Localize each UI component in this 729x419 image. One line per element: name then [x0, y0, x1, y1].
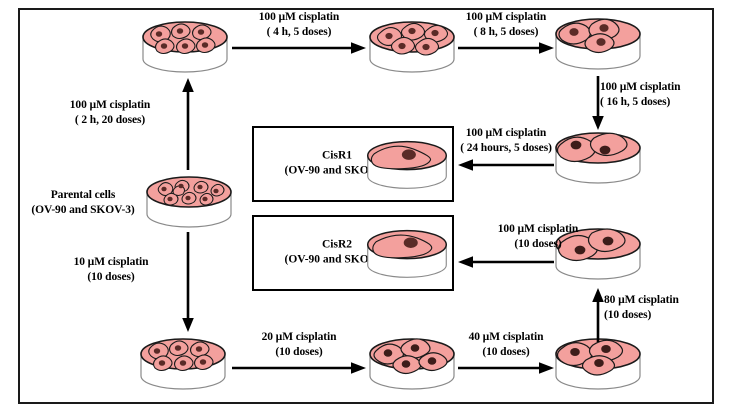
label-parental-cells: Parental cells (OV-90 and SKOV-3): [22, 188, 144, 218]
parental-cells-dish: [143, 170, 235, 232]
label-treatment-8h-line2: ( 8 h, 5 doses): [426, 25, 586, 40]
label-treatment-2h-line1: 100 µM cisplatin: [30, 98, 190, 113]
label-treatment-20um-line2: (10 doses): [219, 345, 379, 360]
label-treatment-8h-line1: 100 µM cisplatin: [426, 10, 586, 25]
cisr2-title: CisR2: [322, 239, 352, 251]
arrow-20um-right: [232, 358, 366, 378]
label-treatment-80um-line2: (10 doses): [604, 308, 724, 323]
figure-canvas: CisR1 (OV-90 and SKOV-3) CisR2 (OV-90 an…: [0, 0, 729, 419]
label-treatment-20um-line1: 20 µM cisplatin: [219, 330, 379, 345]
label-treatment-10um-line1: 10 µM cisplatin: [36, 255, 186, 270]
label-parental-cells-line1: Parental cells: [22, 188, 144, 203]
arrow-100um-left: [458, 252, 554, 272]
cisr1-title: CisR1: [322, 150, 352, 162]
arrow-24h-left: [458, 155, 554, 175]
label-treatment-4h-line1: 100 µM cisplatin: [219, 10, 379, 25]
label-treatment-24h: 100 µM cisplatin ( 24 hours, 5 doses): [424, 126, 588, 156]
cisr2-result-box: CisR2 (OV-90 and SKOV-3): [252, 215, 454, 291]
label-treatment-8h: 100 µM cisplatin ( 8 h, 5 doses): [426, 10, 586, 40]
label-treatment-40um-line2: (10 doses): [426, 345, 586, 360]
label-treatment-2h: 100 µM cisplatin ( 2 h, 20 doses): [30, 98, 190, 128]
label-treatment-100um-line2: (10 doses): [458, 237, 618, 252]
label-treatment-100um-line1: 100 µM cisplatin: [458, 222, 618, 237]
label-treatment-40um-line1: 40 µM cisplatin: [426, 330, 586, 345]
label-treatment-10um: 10 µM cisplatin (10 doses): [36, 255, 186, 285]
label-treatment-100um: 100 µM cisplatin (10 doses): [458, 222, 618, 252]
label-treatment-20um: 20 µM cisplatin (10 doses): [219, 330, 379, 360]
label-treatment-4h: 100 µM cisplatin ( 4 h, 5 doses): [219, 10, 379, 40]
label-treatment-80um-line1: 80 µM cisplatin: [604, 293, 724, 308]
label-treatment-2h-line2: ( 2 h, 20 doses): [30, 113, 190, 128]
dish-after-10um: [137, 332, 229, 394]
label-treatment-16h-line1: 100 µM cisplatin: [600, 80, 724, 95]
label-treatment-24h-line1: 100 µM cisplatin: [424, 126, 588, 141]
arrow-8h-right: [458, 38, 554, 58]
arrow-4h-right: [232, 38, 366, 58]
label-treatment-24h-line2: ( 24 hours, 5 doses): [424, 141, 588, 156]
label-treatment-16h: 100 µM cisplatin ( 16 h, 5 doses): [600, 80, 724, 110]
label-treatment-40um: 40 µM cisplatin (10 doses): [426, 330, 586, 360]
label-parental-cells-line2: (OV-90 and SKOV-3): [22, 203, 144, 218]
label-treatment-80um: 80 µM cisplatin (10 doses): [604, 293, 724, 323]
label-treatment-10um-line2: (10 doses): [36, 270, 186, 285]
arrow-40um-right: [458, 358, 554, 378]
label-treatment-4h-line2: ( 4 h, 5 doses): [219, 25, 379, 40]
dish-after-2h: [139, 15, 231, 77]
cisr2-dish: [364, 223, 450, 283]
label-treatment-16h-line2: ( 16 h, 5 doses): [600, 95, 724, 110]
